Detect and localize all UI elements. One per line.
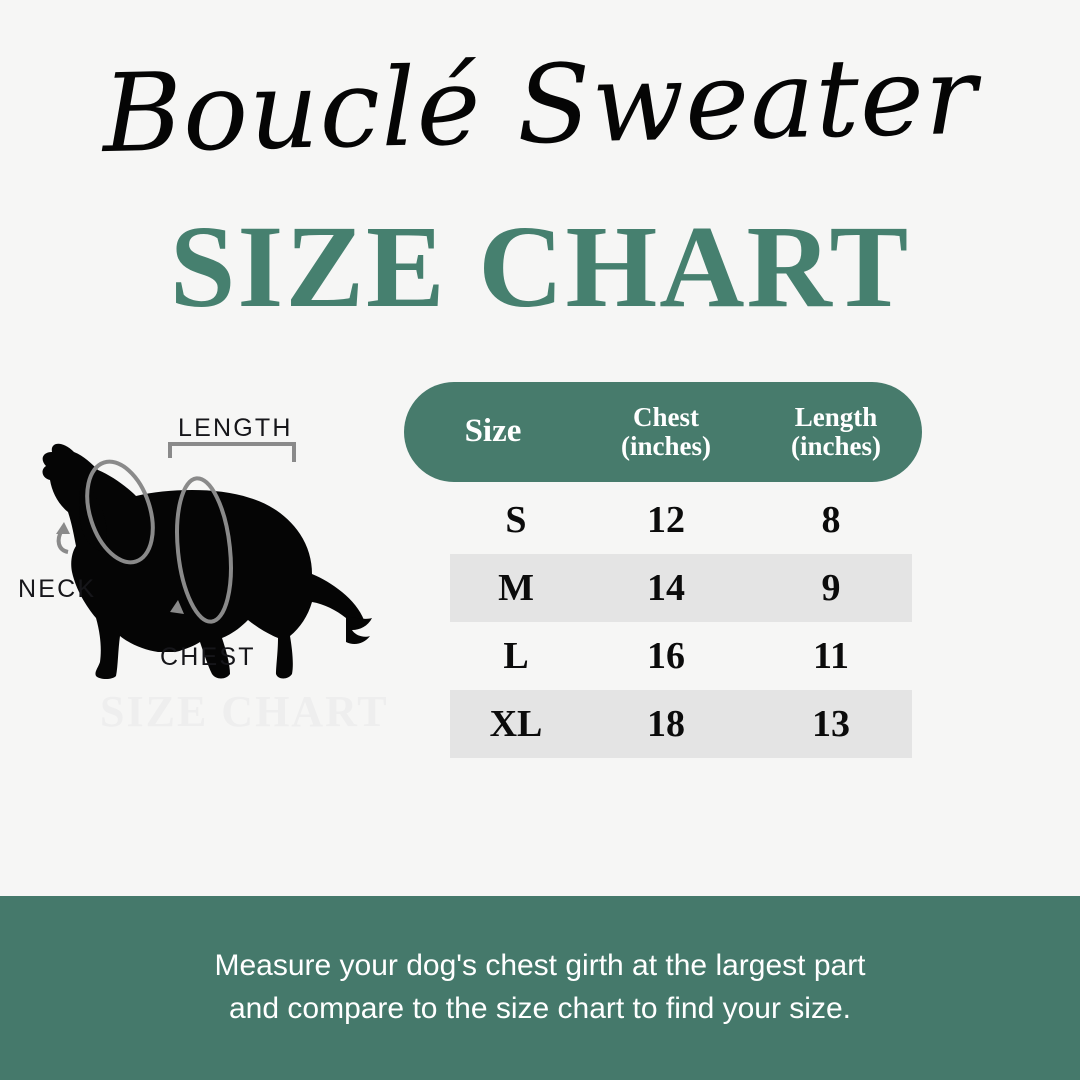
table-row: L 16 11 <box>450 622 912 690</box>
length-bracket <box>170 444 294 460</box>
script-title: Bouclé Sweater <box>0 41 1080 172</box>
footer-banner: Measure your dog's chest girth at the la… <box>0 896 1080 1080</box>
label-chest: CHEST <box>160 643 256 672</box>
column-header-chest-unit: (inches) <box>582 432 750 461</box>
page-title: SIZE CHART <box>0 208 1080 326</box>
column-header-chest: Chest (inches) <box>582 403 750 461</box>
table-row: XL 18 13 <box>450 690 912 758</box>
cell-chest: 16 <box>582 637 750 675</box>
label-neck: NECK <box>18 575 96 604</box>
cell-length: 13 <box>750 705 912 743</box>
footer-line-1: Measure your dog's chest girth at the la… <box>214 945 865 988</box>
size-chart-page: Bouclé Sweater SIZE CHART LENGTH NECK CH… <box>0 0 1080 1080</box>
cell-chest: 14 <box>582 569 750 607</box>
cell-length: 9 <box>750 569 912 607</box>
ghost-watermark-text: SIZE CHART <box>100 686 360 737</box>
column-header-length-label: Length <box>795 402 878 432</box>
table-header-row: Size Chest (inches) Length (inches) <box>404 382 922 482</box>
dog-silhouette-icon <box>12 400 412 730</box>
column-header-length-unit: (inches) <box>750 432 922 461</box>
cell-length: 8 <box>750 501 912 539</box>
label-length: LENGTH <box>178 414 293 443</box>
cell-size: M <box>450 569 582 607</box>
cell-size: L <box>450 637 582 675</box>
column-header-size-label: Size <box>465 413 522 449</box>
size-table: Size Chest (inches) Length (inches) S 12… <box>404 382 922 758</box>
table-row: M 14 9 <box>450 554 912 622</box>
cell-size: S <box>450 501 582 539</box>
table-row: S 12 8 <box>450 486 912 554</box>
table-body: S 12 8 M 14 9 L 16 11 XL 18 13 <box>404 486 922 758</box>
dog-measurement-diagram <box>12 400 412 730</box>
column-header-size: Size <box>404 414 582 450</box>
column-header-length: Length (inches) <box>750 403 922 461</box>
cell-chest: 18 <box>582 705 750 743</box>
column-header-chest-label: Chest <box>633 402 699 432</box>
cell-length: 11 <box>750 637 912 675</box>
cell-size: XL <box>450 705 582 743</box>
cell-chest: 12 <box>582 501 750 539</box>
footer-line-2: and compare to the size chart to find yo… <box>229 988 851 1031</box>
